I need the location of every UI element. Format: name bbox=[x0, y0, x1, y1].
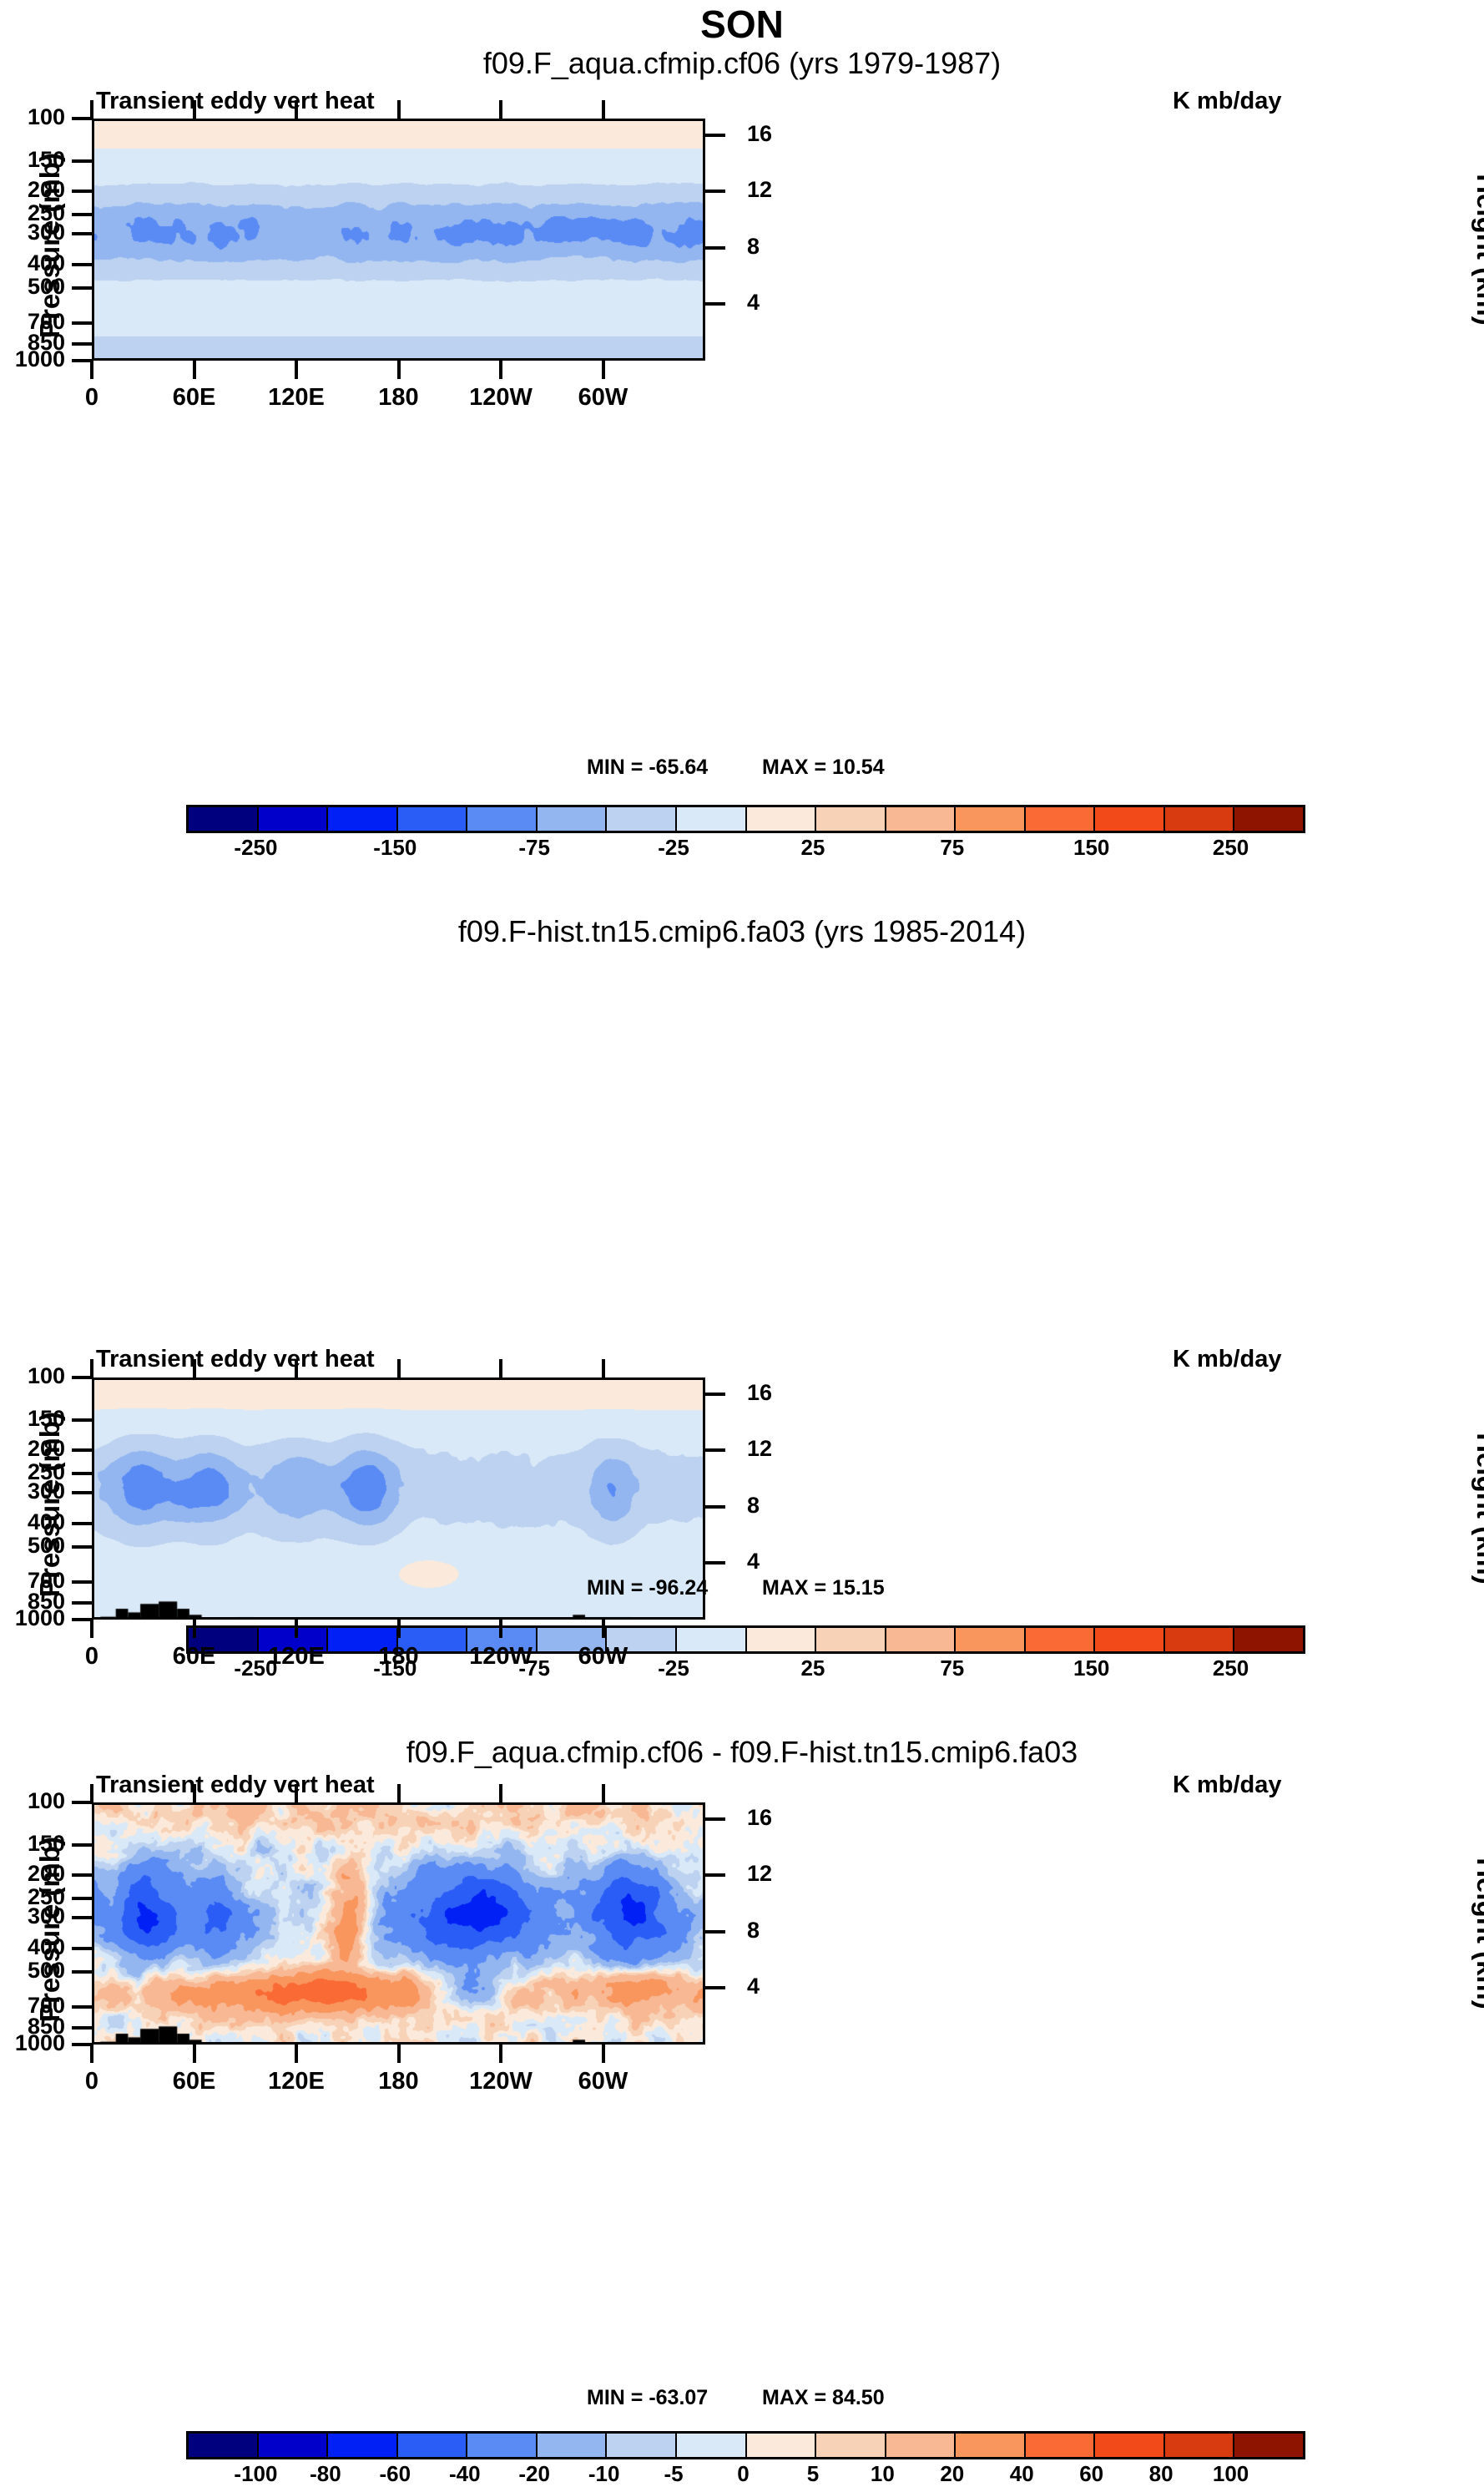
lon-tick-label: 180 bbox=[349, 2068, 449, 2095]
height-tick-label: 16 bbox=[747, 1380, 772, 1406]
lon-tick-mark-bottom bbox=[602, 2045, 605, 2063]
pressure-tick-mark bbox=[72, 1897, 93, 1900]
lon-tick-label: 120E bbox=[246, 384, 346, 412]
pressure-tick-mark bbox=[72, 1491, 93, 1494]
colorbar-cell bbox=[538, 807, 608, 831]
lon-tick-mark-bottom bbox=[90, 361, 93, 379]
lon-tick-mark-bottom bbox=[193, 1620, 196, 1638]
pressure-tick-label: 400 bbox=[0, 1934, 65, 1960]
colorbar-cell bbox=[677, 807, 747, 831]
lon-tick-label: 0 bbox=[42, 2068, 142, 2095]
colorbar-tick-label: 100 bbox=[1213, 2461, 1249, 2487]
colorbar-cell bbox=[1234, 1628, 1303, 1651]
pressure-tick-mark bbox=[72, 232, 93, 235]
height-tick-label: 4 bbox=[747, 1549, 760, 1575]
pressure-tick-mark bbox=[72, 1947, 93, 1950]
lon-tick-mark-bottom bbox=[295, 1620, 298, 1638]
pressure-tick-mark bbox=[72, 342, 93, 346]
lon-tick-mark-top bbox=[397, 1784, 401, 1804]
lon-tick-label: 120W bbox=[451, 2068, 551, 2095]
pressure-tick-mark bbox=[72, 1843, 93, 1847]
height-tick-mark bbox=[704, 1817, 725, 1821]
colorbar-tick-label: -20 bbox=[518, 2461, 550, 2487]
colorbar-tick-label: 150 bbox=[1073, 1655, 1109, 1681]
colorbar-cell bbox=[1095, 1628, 1165, 1651]
colorbar-tick-label: 25 bbox=[800, 835, 825, 861]
lon-tick-mark-bottom bbox=[397, 361, 401, 379]
colorbar-tick-label: 25 bbox=[800, 1655, 825, 1681]
colorbar-cell bbox=[956, 1628, 1026, 1651]
colorbar-tick-label: -250 bbox=[234, 835, 277, 861]
lon-tick-label: 120W bbox=[451, 1643, 551, 1671]
colorbar-cell bbox=[189, 2434, 259, 2457]
lon-tick-mark-bottom bbox=[397, 2045, 401, 2063]
pressure-tick-label: 1000 bbox=[0, 2030, 65, 2056]
colorbar-tick-label: -10 bbox=[588, 2461, 620, 2487]
lon-tick-mark-top bbox=[499, 1784, 502, 1804]
colorbar-cell bbox=[886, 1628, 957, 1651]
lon-tick-mark-top bbox=[602, 1784, 605, 1804]
panel-3-colorbar-labels: -100-80-60-40-20-10-5051020406080100 bbox=[186, 2461, 1305, 2486]
lon-tick-mark-top bbox=[90, 1784, 93, 1804]
height-tick-label: 8 bbox=[747, 1918, 760, 1944]
colorbar-cell bbox=[328, 2434, 398, 2457]
pressure-tick-mark bbox=[72, 1970, 93, 1974]
colorbar-cell bbox=[816, 807, 886, 831]
height-tick-label: 4 bbox=[747, 1974, 760, 1999]
colorbar-tick-label: -25 bbox=[658, 835, 689, 861]
lon-tick-label: 60E bbox=[144, 1643, 245, 1671]
pressure-tick-label: 150 bbox=[0, 147, 65, 173]
panel-1-max-label: MAX = 10.54 bbox=[762, 756, 885, 780]
lon-tick-mark-top bbox=[499, 1359, 502, 1379]
colorbar-cell bbox=[259, 2434, 329, 2457]
colorbar-cell bbox=[607, 2434, 677, 2457]
height-tick-label: 8 bbox=[747, 234, 760, 260]
panel-2-variable-label: Transient eddy vert heat bbox=[96, 1346, 375, 1373]
colorbar-tick-label: 250 bbox=[1213, 1655, 1249, 1681]
pressure-tick-label: 100 bbox=[0, 1788, 65, 1814]
height-tick-mark bbox=[704, 246, 725, 250]
height-tick-mark bbox=[704, 134, 725, 137]
lon-tick-mark-bottom bbox=[90, 1620, 93, 1638]
lon-tick-label: 120E bbox=[246, 2068, 346, 2095]
pressure-tick-mark bbox=[72, 263, 93, 266]
panel-1-title: f09.F_aqua.cfmip.cf06 (yrs 1979-1987) bbox=[0, 46, 1484, 81]
pressure-tick-label: 300 bbox=[0, 1903, 65, 1929]
height-tick-label: 8 bbox=[747, 1493, 760, 1519]
lon-tick-label: 60E bbox=[144, 2068, 245, 2095]
colorbar-tick-label: 0 bbox=[737, 2461, 749, 2487]
colorbar-tick-label: -100 bbox=[234, 2461, 277, 2487]
height-tick-mark bbox=[704, 190, 725, 193]
colorbar-cell bbox=[467, 2434, 538, 2457]
colorbar-cell bbox=[677, 1628, 747, 1651]
lon-tick-mark-bottom bbox=[499, 1620, 502, 1638]
pressure-tick-mark bbox=[72, 1418, 93, 1422]
height-tick-mark bbox=[704, 302, 725, 306]
height-tick-mark bbox=[704, 1873, 725, 1877]
pressure-tick-label: 300 bbox=[0, 1479, 65, 1504]
colorbar-cell bbox=[1165, 1628, 1235, 1651]
lon-tick-mark-top bbox=[602, 100, 605, 120]
colorbar-cell bbox=[816, 1628, 886, 1651]
lon-tick-mark-bottom bbox=[602, 361, 605, 379]
pressure-tick-label: 100 bbox=[0, 1363, 65, 1389]
lon-tick-label: 0 bbox=[42, 1643, 142, 1671]
lon-tick-mark-bottom bbox=[193, 2045, 196, 2063]
lon-tick-label: 120E bbox=[246, 1643, 346, 1671]
colorbar-cell bbox=[747, 1628, 817, 1651]
panel-3-min-label: MIN = -63.07 bbox=[587, 2386, 708, 2410]
pressure-tick-label: 200 bbox=[0, 1861, 65, 1887]
colorbar-tick-label: 80 bbox=[1149, 2461, 1174, 2487]
lon-tick-mark-top bbox=[90, 1359, 93, 1379]
colorbar-tick-label: -75 bbox=[518, 835, 550, 861]
height-tick-mark bbox=[704, 1505, 725, 1509]
pressure-tick-mark bbox=[72, 1601, 93, 1605]
height-tick-label: 4 bbox=[747, 290, 760, 316]
pressure-tick-label: 1000 bbox=[0, 346, 65, 372]
lon-tick-mark-top bbox=[602, 1359, 605, 1379]
pressure-tick-label: 150 bbox=[0, 1831, 65, 1857]
colorbar-tick-label: -40 bbox=[449, 2461, 481, 2487]
colorbar-cell bbox=[1234, 807, 1303, 831]
colorbar-cell bbox=[747, 807, 817, 831]
lon-tick-label: 120W bbox=[451, 384, 551, 412]
lon-tick-mark-bottom bbox=[90, 2045, 93, 2063]
lon-tick-mark-top bbox=[295, 100, 298, 120]
colorbar-tick-label: 60 bbox=[1079, 2461, 1103, 2487]
lon-tick-mark-bottom bbox=[602, 1620, 605, 1638]
colorbar-cell bbox=[398, 2434, 468, 2457]
colorbar-cell bbox=[259, 807, 329, 831]
lon-tick-mark-top bbox=[295, 1359, 298, 1379]
colorbar-tick-label: -5 bbox=[664, 2461, 684, 2487]
panel-1-plot-area[interactable] bbox=[92, 119, 705, 361]
colorbar-cell bbox=[398, 807, 468, 831]
lon-tick-mark-top bbox=[193, 1784, 196, 1804]
panel-2-min-label: MIN = -96.24 bbox=[587, 1576, 708, 1600]
pressure-tick-mark bbox=[72, 1472, 93, 1475]
colorbar-cell bbox=[189, 807, 259, 831]
colorbar-cell bbox=[677, 2434, 747, 2457]
pressure-tick-mark bbox=[72, 1545, 93, 1549]
panel-2-units-label: K mb/day bbox=[1173, 1346, 1282, 1373]
panel-3-plot-area[interactable] bbox=[92, 1802, 705, 2045]
colorbar-cell bbox=[538, 2434, 608, 2457]
lon-tick-mark-bottom bbox=[295, 361, 298, 379]
lon-tick-mark-top bbox=[193, 1359, 196, 1379]
lon-tick-mark-bottom bbox=[499, 361, 502, 379]
panel-1-colorbar[interactable] bbox=[186, 805, 1305, 833]
pressure-tick-mark bbox=[72, 2026, 93, 2030]
colorbar-cell bbox=[1026, 807, 1096, 831]
pressure-tick-mark bbox=[72, 1873, 93, 1877]
lon-tick-mark-top bbox=[90, 100, 93, 120]
pressure-tick-label: 1000 bbox=[0, 1605, 65, 1631]
panel-1-height-axis-label: Height (km) bbox=[1471, 129, 1484, 371]
pressure-tick-label: 500 bbox=[0, 1533, 65, 1559]
panel-1-variable-label: Transient eddy vert heat bbox=[96, 88, 375, 115]
pressure-tick-label: 200 bbox=[0, 1436, 65, 1462]
colorbar-cell bbox=[1026, 1628, 1096, 1651]
panel-3-variable-label: Transient eddy vert heat bbox=[96, 1772, 375, 1799]
lon-tick-label: 180 bbox=[349, 1643, 449, 1671]
panel-3-height-axis-label: Height (km) bbox=[1471, 1812, 1484, 2055]
pressure-tick-label: 500 bbox=[0, 274, 65, 300]
colorbar-cell bbox=[956, 2434, 1026, 2457]
colorbar-tick-label: 40 bbox=[1010, 2461, 1034, 2487]
lon-tick-mark-top bbox=[193, 100, 196, 120]
lon-tick-mark-top bbox=[397, 100, 401, 120]
pressure-tick-mark bbox=[72, 1522, 93, 1525]
height-tick-label: 12 bbox=[747, 177, 772, 203]
panel-3-colorbar[interactable] bbox=[186, 2431, 1305, 2459]
pressure-tick-mark bbox=[72, 213, 93, 216]
pressure-tick-mark bbox=[72, 190, 93, 193]
height-tick-label: 12 bbox=[747, 1436, 772, 1462]
lon-tick-mark-top bbox=[397, 1359, 401, 1379]
pressure-tick-label: 400 bbox=[0, 1509, 65, 1535]
panel-1-colorbar-labels: -250-150-75-252575150250 bbox=[186, 835, 1305, 863]
height-tick-mark bbox=[704, 1986, 725, 1989]
height-tick-label: 16 bbox=[747, 1805, 772, 1831]
colorbar-tick-label: 75 bbox=[940, 1655, 964, 1681]
lon-tick-label: 60E bbox=[144, 384, 245, 412]
pressure-tick-label: 400 bbox=[0, 250, 65, 276]
colorbar-cell bbox=[956, 807, 1026, 831]
lon-tick-mark-top bbox=[295, 1784, 298, 1804]
colorbar-tick-label: 20 bbox=[940, 2461, 964, 2487]
pressure-tick-mark bbox=[72, 159, 93, 163]
panel-3-units-label: K mb/day bbox=[1173, 1772, 1282, 1799]
panel-3-max-label: MAX = 84.50 bbox=[762, 2386, 885, 2410]
colorbar-tick-label: 250 bbox=[1213, 835, 1249, 861]
pressure-tick-label: 300 bbox=[0, 220, 65, 245]
pressure-tick-label: 150 bbox=[0, 1406, 65, 1432]
panel-1-units-label: K mb/day bbox=[1173, 88, 1282, 115]
panel-3-contour-canvas bbox=[94, 1805, 705, 2045]
colorbar-cell bbox=[816, 2434, 886, 2457]
colorbar-cell bbox=[1095, 807, 1165, 831]
colorbar-cell bbox=[1234, 2434, 1303, 2457]
colorbar-cell bbox=[1165, 807, 1235, 831]
pressure-tick-mark bbox=[72, 321, 93, 325]
colorbar-cell bbox=[607, 807, 677, 831]
colorbar-cell bbox=[886, 2434, 957, 2457]
lon-tick-mark-top bbox=[499, 100, 502, 120]
colorbar-cell bbox=[467, 807, 538, 831]
colorbar-tick-label: -150 bbox=[373, 835, 416, 861]
panel-2-max-label: MAX = 15.15 bbox=[762, 1576, 885, 1600]
colorbar-cell bbox=[328, 807, 398, 831]
lon-tick-label: 0 bbox=[42, 384, 142, 412]
height-tick-mark bbox=[704, 1561, 725, 1564]
pressure-tick-mark bbox=[72, 1448, 93, 1452]
colorbar-tick-label: 5 bbox=[807, 2461, 819, 2487]
colorbar-tick-label: 10 bbox=[871, 2461, 895, 2487]
lon-tick-mark-bottom bbox=[295, 2045, 298, 2063]
pressure-tick-label: 500 bbox=[0, 1958, 65, 1984]
colorbar-tick-label: -25 bbox=[658, 1655, 689, 1681]
lon-tick-mark-bottom bbox=[193, 361, 196, 379]
panel-3-title: f09.F_aqua.cfmip.cf06 - f09.F-hist.tn15.… bbox=[0, 1735, 1484, 1770]
colorbar-cell bbox=[1165, 2434, 1235, 2457]
pressure-tick-mark bbox=[72, 1916, 93, 1919]
lon-tick-label: 60W bbox=[553, 2068, 654, 2095]
panel-1-min-label: MIN = -65.64 bbox=[587, 756, 708, 780]
colorbar-tick-label: -60 bbox=[380, 2461, 411, 2487]
pressure-tick-label: 100 bbox=[0, 104, 65, 130]
height-tick-mark bbox=[704, 1448, 725, 1452]
lon-tick-label: 60W bbox=[553, 384, 654, 412]
colorbar-tick-label: 75 bbox=[940, 835, 964, 861]
lon-tick-mark-bottom bbox=[499, 2045, 502, 2063]
pressure-tick-mark bbox=[72, 286, 93, 290]
colorbar-cell bbox=[1095, 2434, 1165, 2457]
colorbar-cell bbox=[886, 807, 957, 831]
colorbar-tick-label: 150 bbox=[1073, 835, 1109, 861]
height-tick-label: 12 bbox=[747, 1861, 772, 1887]
lon-tick-label: 180 bbox=[349, 384, 449, 412]
colorbar-cell bbox=[1026, 2434, 1096, 2457]
height-tick-mark bbox=[704, 1393, 725, 1396]
height-tick-mark bbox=[704, 1930, 725, 1933]
panel-2-height-axis-label: Height (km) bbox=[1471, 1388, 1484, 1630]
panel-1-contour-canvas bbox=[94, 121, 705, 361]
pressure-tick-mark bbox=[72, 2005, 93, 2009]
pressure-tick-label: 200 bbox=[0, 177, 65, 203]
colorbar-cell bbox=[747, 2434, 817, 2457]
lon-tick-mark-bottom bbox=[397, 1620, 401, 1638]
height-tick-label: 16 bbox=[747, 121, 772, 147]
figure-main-title: SON bbox=[0, 2, 1484, 47]
colorbar-tick-label: -80 bbox=[310, 2461, 341, 2487]
pressure-tick-mark bbox=[72, 1580, 93, 1584]
lon-tick-label: 60W bbox=[553, 1643, 654, 1671]
panel-2-title: f09.F-hist.tn15.cmip6.fa03 (yrs 1985-201… bbox=[0, 914, 1484, 949]
